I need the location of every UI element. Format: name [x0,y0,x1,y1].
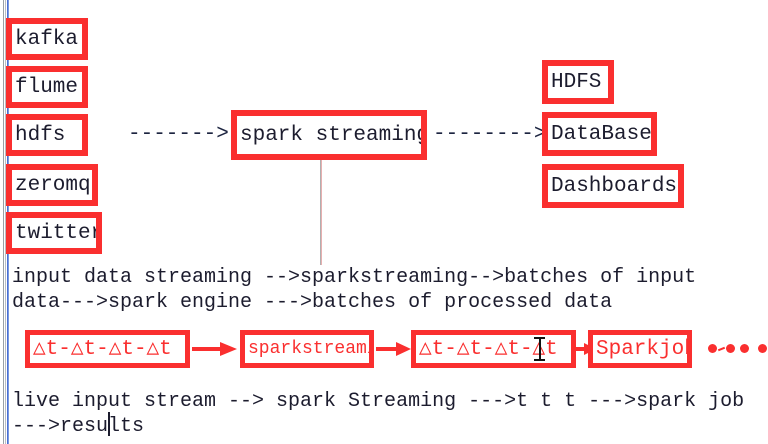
source-box-kafka[interactable]: kafka [6,18,88,60]
source-label-twitter: twitter [12,223,102,244]
source-label-zeromq: zeromq [12,175,91,196]
trailing-dot-tick [718,346,725,350]
note-line-4: --->results [12,414,144,439]
mouse-text-cursor [534,337,545,361]
pipeline-arrow-1 [192,341,238,357]
sink-label-database: DataBase [548,124,652,145]
trailing-dot [758,344,767,353]
pipeline-label-sparkstreaming: sparkstreaming [245,340,374,358]
note-line-3: live input stream --> spark Streaming --… [12,389,744,414]
engine-dropline [320,160,322,265]
engine-box-spark-streaming[interactable]: spark streaming [231,110,427,160]
pipeline-label-batches-1: △t-△t-△t-△t [30,339,172,360]
trailing-dot [740,344,749,353]
pipeline-box-batches-1[interactable]: △t-△t-△t-△t [25,330,190,368]
pipeline-box-batches-2[interactable]: △t-△t-△t-△t [411,330,576,368]
dashed-arrow-sources-to-engine: -------> [128,124,229,145]
dashed-arrow-engine-to-sinks: --------> [433,124,546,145]
source-box-twitter[interactable]: twitter [6,212,102,254]
ibeam-stem [539,339,541,359]
diagram-canvas: kafka flume hdfs zeromq twitter ------->… [0,0,768,444]
source-label-kafka: kafka [12,29,78,50]
sink-box-dashboards[interactable]: Dashboards [542,164,684,208]
sink-box-database[interactable]: DataBase [542,112,657,156]
source-box-hdfs[interactable]: hdfs [6,114,88,156]
note-line-1: input data streaming -->sparkstreaming--… [12,265,696,290]
sink-label-dashboards: Dashboards [548,176,677,197]
source-box-flume[interactable]: flume [6,66,88,108]
engine-label: spark streaming [237,125,427,146]
pipeline-trailing-dots [708,344,767,353]
trailing-dot [726,344,735,353]
document-edge-rule-gray [3,0,4,444]
note-line-2: data--->spark engine --->batches of proc… [12,290,612,315]
pipeline-box-sparkstreaming[interactable]: sparkstreaming [240,330,374,368]
source-label-hdfs: hdfs [12,125,65,146]
sink-box-hdfs[interactable]: HDFS [542,60,614,104]
pipeline-box-sparkjob[interactable]: Sparkjob [588,330,692,368]
ibeam-cap-bottom [534,359,545,361]
text-insertion-caret [108,412,110,436]
source-label-flume: flume [12,77,78,98]
pipeline-arrow-2 [376,341,412,357]
source-box-zeromq[interactable]: zeromq [6,164,98,206]
sink-label-hdfs: HDFS [548,72,601,93]
pipeline-label-sparkjob: Sparkjob [593,339,692,360]
trailing-dot [708,344,717,353]
